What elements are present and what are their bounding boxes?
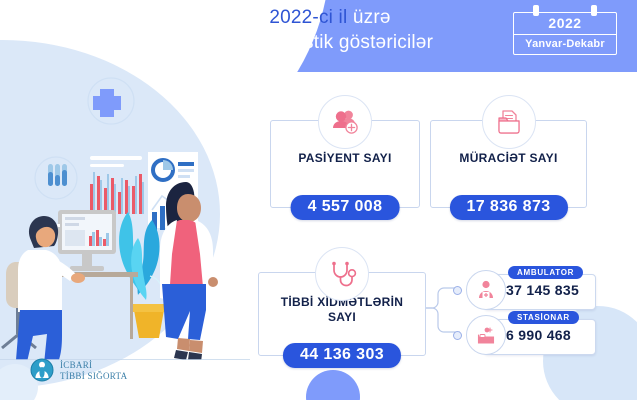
plus-circle-icon — [88, 78, 134, 124]
connector-dot-ambulator — [453, 286, 462, 295]
stat-card-patients-value: 4 557 008 — [291, 195, 400, 220]
calendar-year: 2022 — [514, 13, 616, 35]
test-tubes-circle-icon — [35, 157, 77, 199]
patients-group-add-icon — [318, 95, 372, 149]
page-title: 2022-ci il üzrə tibbi statistik göstəric… — [150, 6, 510, 56]
sub-item-stasionar[interactable]: STASİONAR 6 990 468 — [466, 315, 596, 355]
calendar-rings — [513, 5, 617, 12]
insurance-circle-logo-icon — [30, 358, 54, 382]
title-subtitle: tibbi statistik göstəricilər — [150, 30, 510, 56]
connector-dot-stasionar — [453, 331, 462, 340]
outpatient-person-icon — [466, 270, 506, 310]
folder-documents-icon — [482, 95, 536, 149]
stat-card-services-value: 44 136 303 — [283, 343, 401, 368]
calendar-ring-left-icon — [533, 5, 539, 16]
stat-card-requests-label: MÜRACİƏT SAYI — [431, 151, 586, 166]
sub-item-ambulator-value: 37 145 835 — [506, 282, 579, 298]
calendar-range: Yanvar-Dekabr — [514, 35, 616, 54]
stat-card-patients-label: PASİYENT SAYI — [271, 151, 419, 166]
sub-item-stasionar-badge: STASİONAR — [508, 311, 579, 324]
stat-card-requests-value: 17 836 873 — [449, 195, 567, 220]
calendar-ring-right-icon — [591, 5, 597, 16]
title-suffix-text: üzrə — [353, 7, 391, 28]
sub-item-ambulator-badge: AMBULATOR — [508, 266, 583, 279]
company-logo-text: İCBARİ TİBBİ SIĞORTA — [60, 360, 127, 381]
medical-data-illustration — [0, 60, 250, 360]
female-doctor-walking — [160, 182, 218, 360]
stat-card-services[interactable]: TİBBİ XİDMƏTLƏRİN SAYI 44 136 303 — [258, 272, 426, 356]
title-year-text: 2022-ci il — [269, 7, 353, 28]
stat-card-requests[interactable]: MÜRACİƏT SAYI 17 836 873 — [430, 120, 587, 208]
stethoscope-icon — [315, 247, 369, 301]
sub-item-ambulator[interactable]: AMBULATOR 37 145 835 — [466, 270, 596, 310]
bar-chart-poster — [90, 156, 144, 214]
calendar-badge: 2022 Yanvar-Dekabr — [513, 5, 617, 55]
bottom-blue-circle — [306, 370, 360, 400]
stat-card-services-label-line2: SAYI — [328, 310, 356, 324]
stat-card-patients[interactable]: PASİYENT SAYI 4 557 008 — [270, 120, 420, 208]
company-logo-line1: İCBARİ — [60, 360, 127, 370]
sub-item-stasionar-value: 6 990 468 — [506, 327, 571, 343]
hospital-bed-icon — [466, 315, 506, 355]
company-logo-line2: TİBBİ SIĞORTA — [60, 371, 127, 381]
infographic-root: 2022-ci il üzrə tibbi statistik göstəric… — [0, 0, 637, 400]
company-logo[interactable]: İCBARİ TİBBİ SIĞORTA — [30, 358, 127, 382]
